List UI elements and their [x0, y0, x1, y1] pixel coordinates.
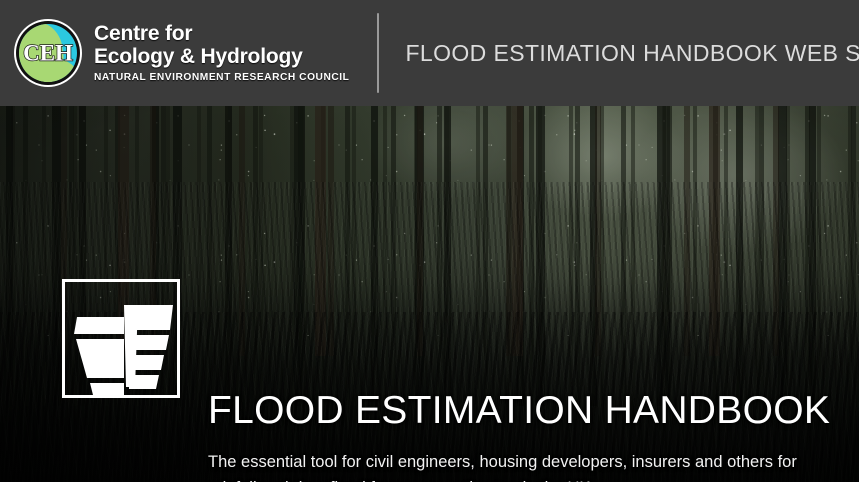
site-header: CEH Centre for Ecology & Hydrology NATUR…: [0, 0, 859, 106]
feh-logo-glyph: [65, 282, 177, 395]
service-title: FLOOD ESTIMATION HANDBOOK WEB SERVICE: [405, 40, 859, 67]
ceh-wordmark-line1: Centre for: [94, 23, 349, 45]
hero-banner: FLOOD ESTIMATION HANDBOOK The essential …: [0, 106, 859, 482]
feh-square-logo-icon[interactable]: [62, 279, 180, 398]
ceh-circle-logo-icon[interactable]: CEH: [14, 19, 82, 87]
hero-content: FLOOD ESTIMATION HANDBOOK The essential …: [0, 106, 859, 482]
hero-title: FLOOD ESTIMATION HANDBOOK: [208, 391, 830, 430]
hero-subtitle: The essential tool for civil engineers, …: [208, 449, 833, 482]
page-root: CEH Centre for Ecology & Hydrology NATUR…: [0, 0, 859, 482]
header-divider: [377, 13, 379, 93]
ceh-wordmark-line2: Ecology & Hydrology: [94, 46, 349, 68]
ceh-wordmark[interactable]: Centre for Ecology & Hydrology NATURAL E…: [94, 23, 349, 83]
ceh-logo-text: CEH: [14, 42, 82, 65]
ceh-wordmark-line3: NATURAL ENVIRONMENT RESEARCH COUNCIL: [94, 72, 349, 83]
